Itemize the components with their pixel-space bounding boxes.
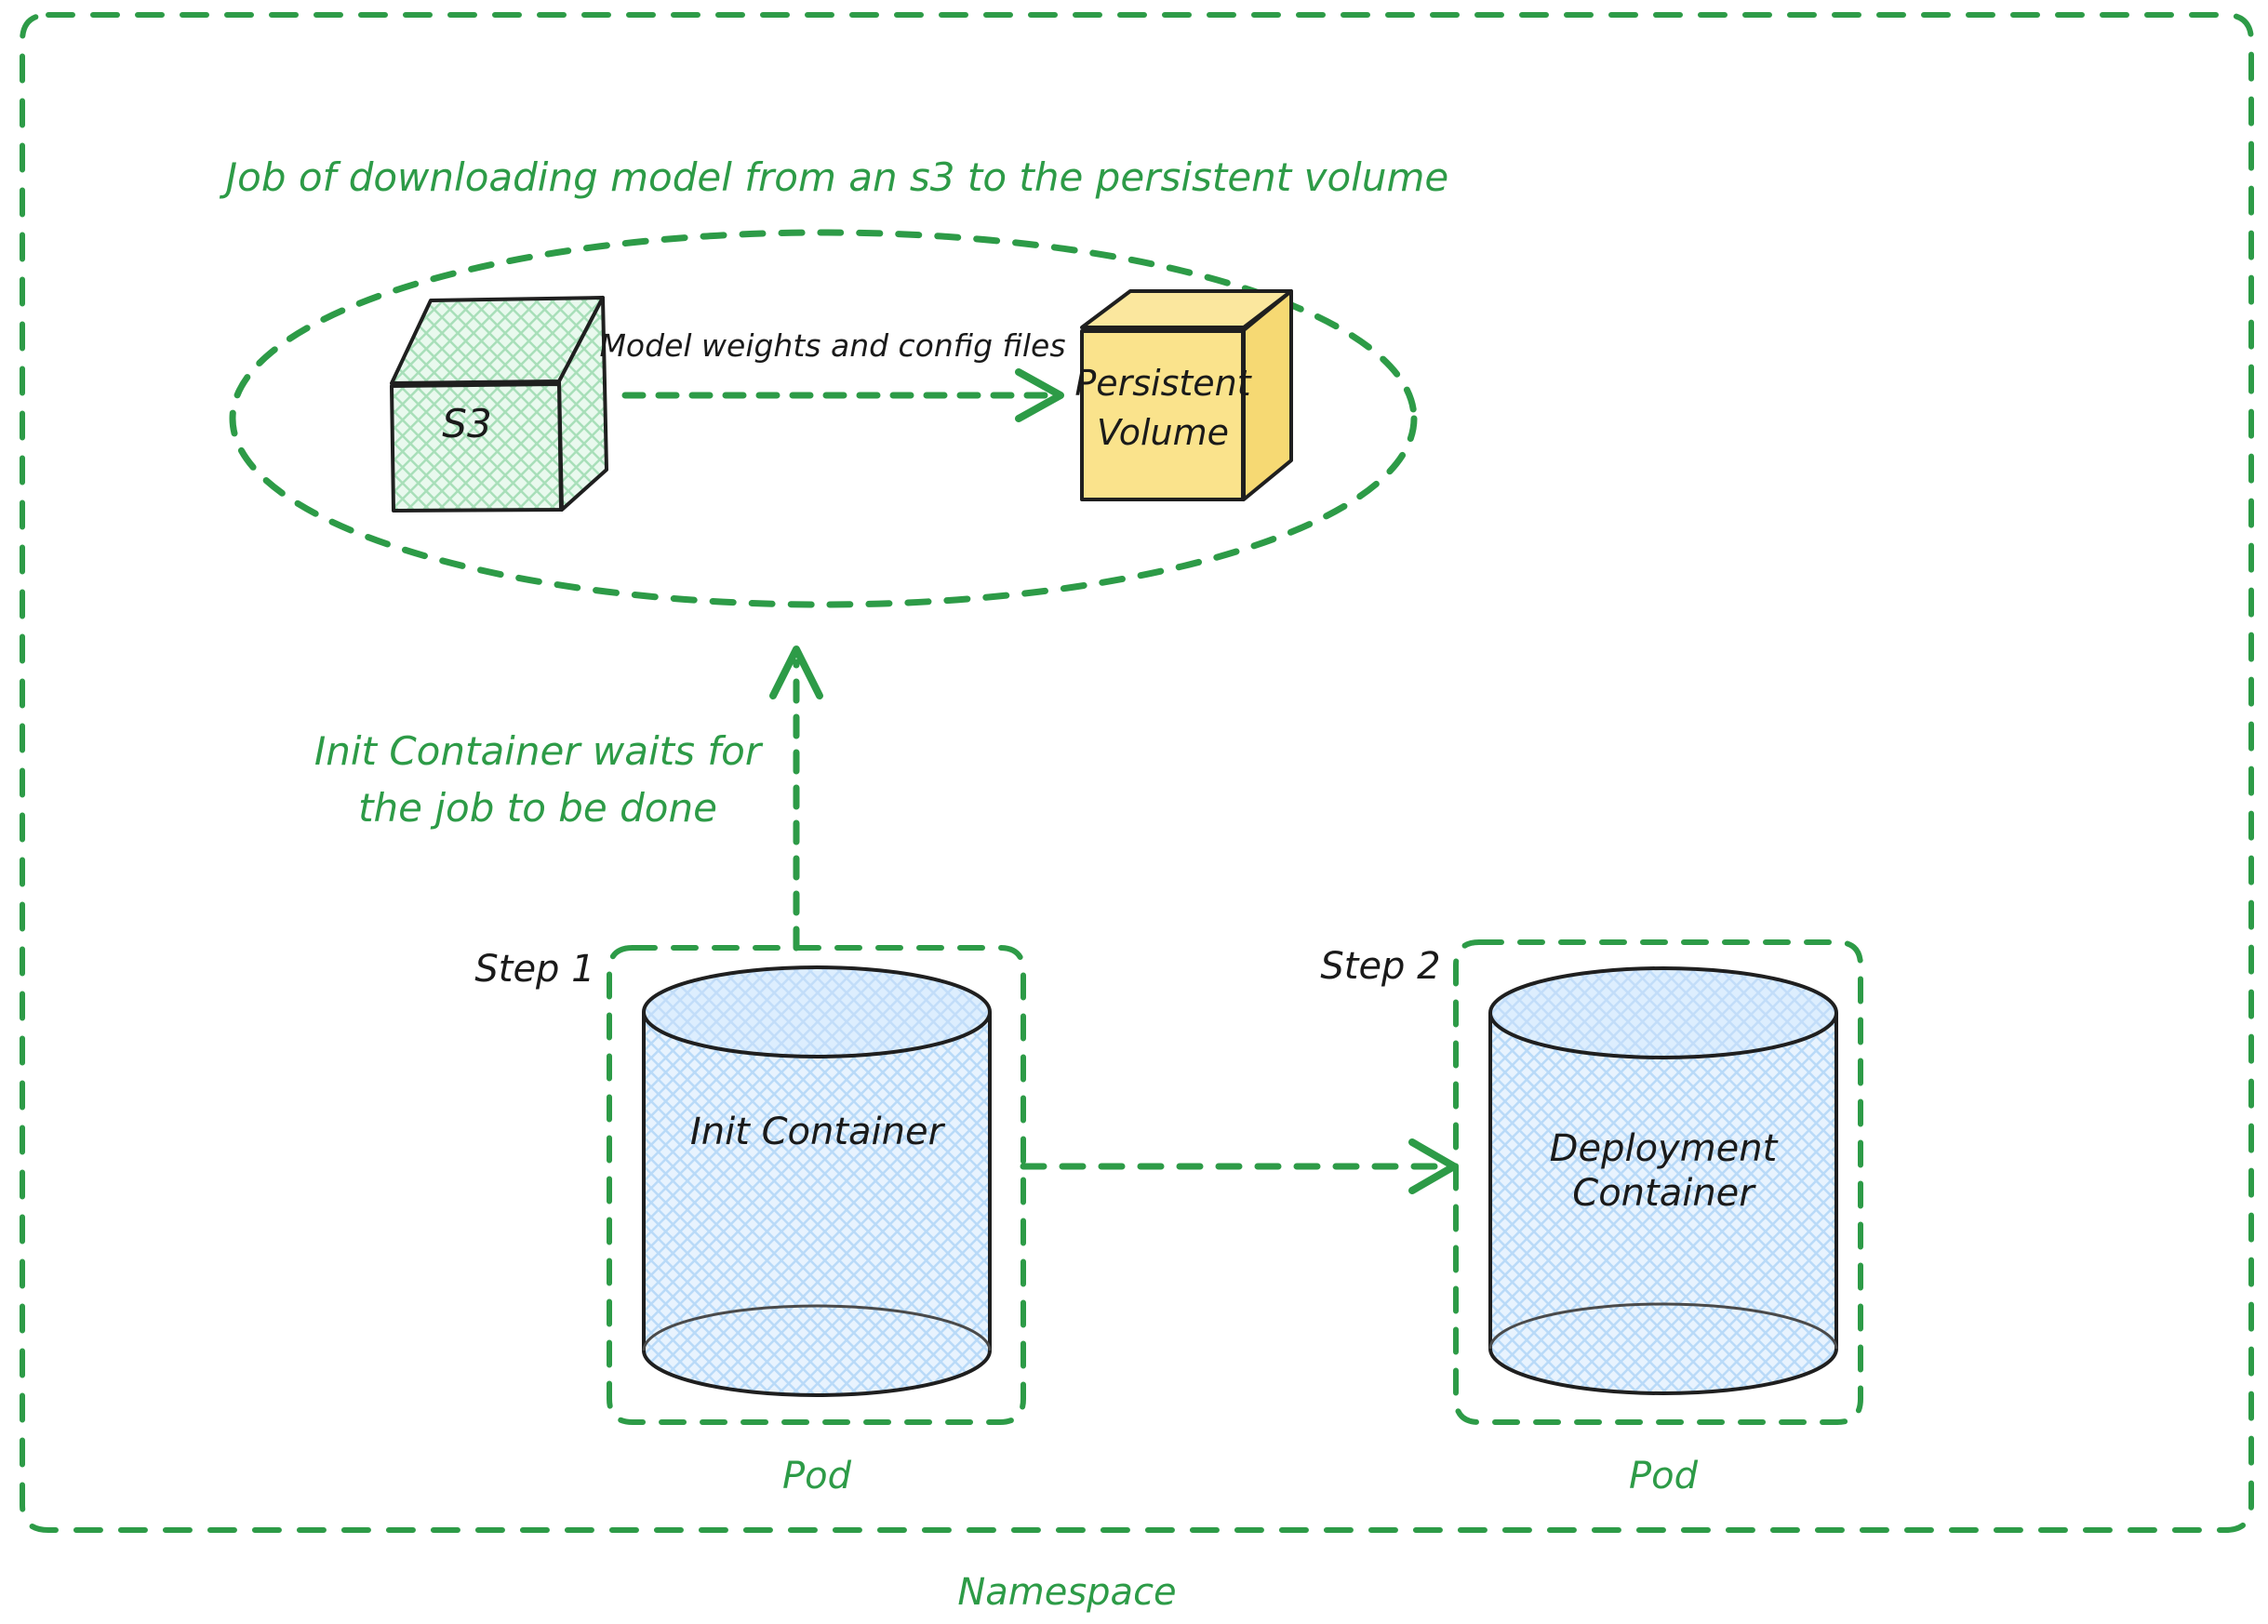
init-wait-label-line2: the job to be done bbox=[358, 785, 717, 831]
pv-cube-label-line2: Volume bbox=[1097, 412, 1229, 453]
init-container-cylinder[interactable]: Init Container bbox=[644, 967, 990, 1395]
namespace-label: Namespace bbox=[957, 1571, 1176, 1614]
init-wait-arrow bbox=[773, 649, 820, 948]
init-container-label-line1: Init Container bbox=[690, 1111, 946, 1153]
deployment-container-cylinder[interactable]: Deployment Container bbox=[1490, 968, 1836, 1393]
diagram-svg: Namespace Job of downloading model from … bbox=[0, 0, 2268, 1624]
model-transfer-label: Model weights and config files bbox=[599, 327, 1065, 364]
pod-1-step-label: Step 1 bbox=[474, 948, 594, 991]
model-transfer-arrow bbox=[625, 372, 1061, 419]
deployment-container-label-line2: Container bbox=[1572, 1172, 1756, 1215]
pod-1[interactable]: Step 1 Init Container Pod bbox=[474, 948, 1023, 1498]
init-container-cylinder-body bbox=[644, 1012, 990, 1395]
diagram-canvas: Namespace Job of downloading model from … bbox=[0, 0, 2268, 1624]
s3-cube[interactable]: S3 bbox=[392, 298, 607, 511]
pv-cube-label-line1: Persistent bbox=[1074, 363, 1252, 404]
job-title: Job of downloading model from an s3 to t… bbox=[220, 154, 1448, 200]
persistent-volume-cube[interactable]: Persistent Volume bbox=[1074, 291, 1291, 499]
pod-2-step-label: Step 2 bbox=[1320, 945, 1440, 988]
init-wait-label-line1: Init Container waits for bbox=[314, 728, 764, 774]
pod-transition-arrow bbox=[1023, 1142, 1454, 1191]
pod-1-label: Pod bbox=[782, 1455, 852, 1498]
s3-cube-label: S3 bbox=[442, 401, 491, 446]
deployment-container-label-line1: Deployment bbox=[1550, 1127, 1779, 1170]
pod-2-label: Pod bbox=[1629, 1455, 1699, 1498]
pod-2[interactable]: Step 2 Deployment Container Pod bbox=[1320, 942, 1861, 1498]
